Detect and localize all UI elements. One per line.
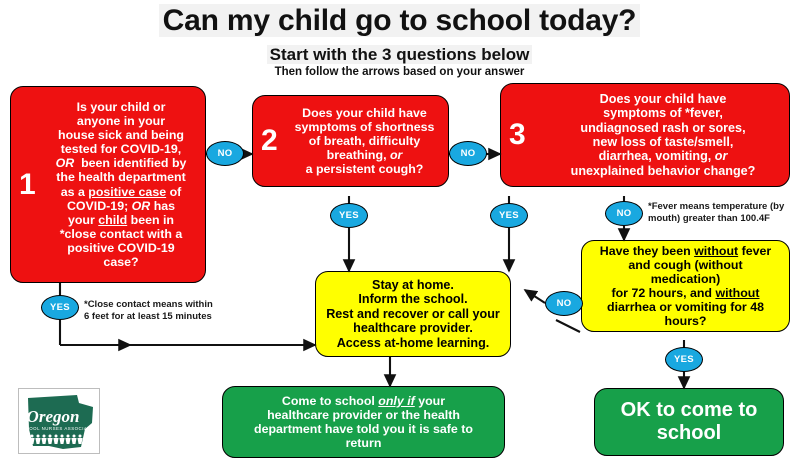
page-title-text: Can my child go to school today? [159,4,641,37]
question-1-text: Is your child oranyone in yourhouse sick… [37,100,205,270]
page-title: Can my child go to school today? [0,4,799,38]
decision-without-yes[interactable]: YES [665,347,703,372]
decision-q2-no[interactable]: NO [449,141,487,166]
come-to-school-text: Come to school only if yourhealthcare pr… [223,394,504,451]
page-instruction: Then follow the arrows based on your ans… [0,66,799,78]
node-ok-to-come-to-school[interactable]: OK to come toschool [594,388,784,456]
svg-text:SCHOOL NURSES ASSOCIATION: SCHOOL NURSES ASSOCIATION [19,426,100,431]
node-stay-at-home[interactable]: Stay at home.Inform the school.Rest and … [315,271,511,357]
node-without-symptoms[interactable]: Have they been without feverand cough (w… [581,240,790,332]
decision-q2-yes[interactable]: YES [330,203,368,228]
stay-at-home-text: Stay at home.Inform the school.Rest and … [316,278,510,350]
oregon-school-nurses-association-icon: Oregon SCHOOL NURSES ASSOCIATION [19,389,100,454]
question-3-number: 3 [509,118,526,152]
decision-q1-no[interactable]: NO [206,141,244,166]
note-fever: *Fever means temperature (bymouth) great… [648,201,798,225]
decision-q3-yes[interactable]: YES [490,203,528,228]
node-question-1[interactable]: 1 Is your child oranyone in yourhouse si… [10,86,206,283]
page-subtitle: Start with the 3 questions below [0,45,799,65]
note-close-contact: *Close contact means within6 feet for at… [84,299,244,323]
decision-q3-no[interactable]: NO [605,201,643,226]
node-question-3[interactable]: 3 Does your child havesymptoms of *fever… [500,83,790,187]
organization-logo: Oregon SCHOOL NURSES ASSOCIATION [18,388,100,454]
flowchart-canvas: Can my child go to school today? Start w… [0,0,799,466]
question-2-number: 2 [261,124,278,158]
ok-to-come-text: OK to come toschool [595,399,783,445]
decision-q1-yes[interactable]: YES [41,295,79,320]
question-3-text: Does your child havesymptoms of *fever,u… [537,92,789,178]
without-symptoms-text: Have they been without feverand cough (w… [582,244,789,329]
page-subtitle-text: Start with the 3 questions below [267,45,533,64]
decision-without-no[interactable]: NO [545,291,583,316]
node-come-to-school-conditional[interactable]: Come to school only if yourhealthcare pr… [222,386,505,458]
question-2-text: Does your child havesymptoms of shortnes… [281,106,448,177]
svg-text:Oregon: Oregon [27,407,80,426]
node-question-2[interactable]: 2 Does your child havesymptoms of shortn… [252,95,449,187]
question-1-number: 1 [19,167,36,201]
